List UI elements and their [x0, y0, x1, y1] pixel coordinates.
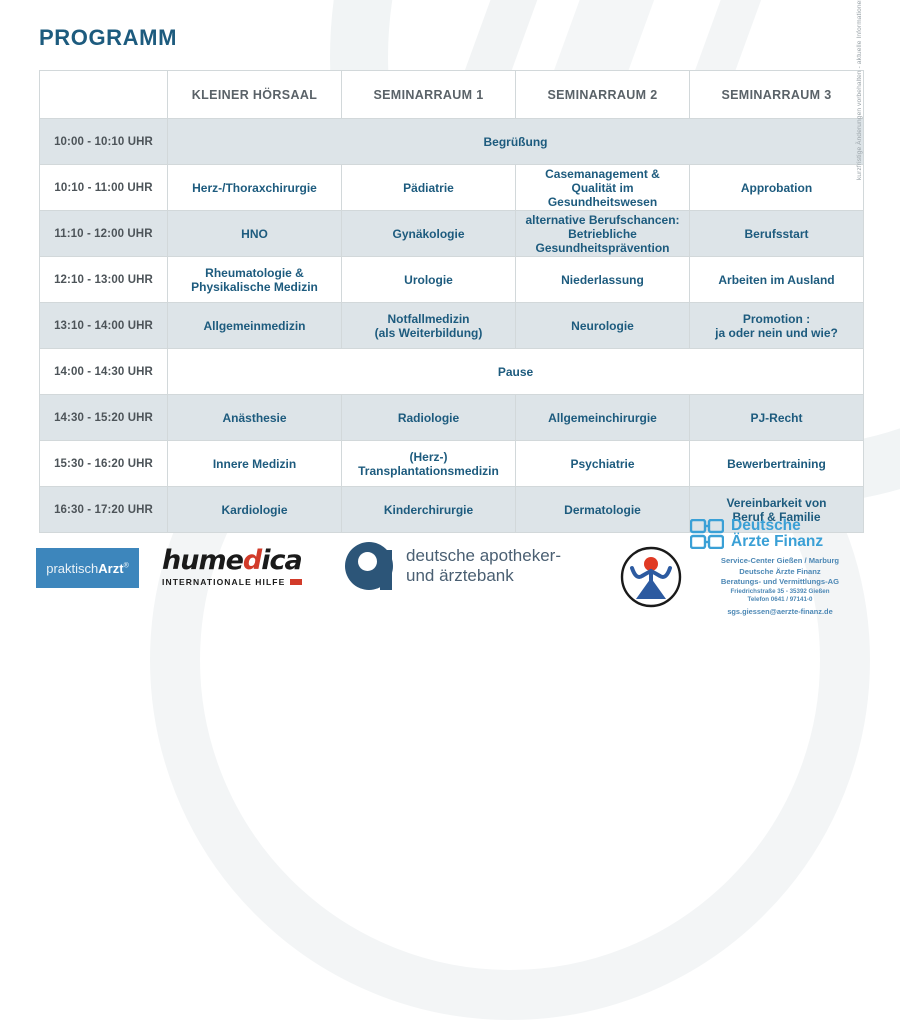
cell-session: Herz-/Thoraxchirurgie [168, 165, 342, 211]
person-in-circle-icon [616, 542, 686, 612]
apobank-wordmark: deutsche apotheker- und ärztebank [406, 546, 561, 586]
aerztefinanz-name-line2: Ärzte Finanz [731, 534, 823, 550]
cell-session: Urologie [342, 257, 516, 303]
cell-time: 15:30 - 16:20 UHR [40, 441, 168, 487]
table-row: 14:00 - 14:30 UHRPause [40, 349, 864, 395]
table-row: 13:10 - 14:00 UHRAllgemeinmedizinNotfall… [40, 303, 864, 349]
registered-icon: ® [124, 562, 129, 569]
contact-email[interactable]: sgs.giessen@aerzte-finanz.de [690, 606, 870, 617]
aerztefinanz-name-line1: Deutsche [731, 518, 823, 534]
apobank-a-mark-icon [345, 542, 393, 590]
praktischarzt-part2: Arzt [98, 561, 123, 576]
cell-session-fullwidth: Pause [168, 349, 864, 395]
humedica-subtitle-row: INTERNATIONALE HILFE [162, 577, 302, 587]
humedica-accent: d [243, 545, 261, 576]
cell-time: 13:10 - 14:00 UHR [40, 303, 168, 349]
column-header-seminarraum-1: SEMINARRAUM 1 [342, 71, 516, 119]
cell-session: Notfallmedizin(als Weiterbildung) [342, 303, 516, 349]
table-row: 15:30 - 16:20 UHRInnere Medizin(Herz-)Tr… [40, 441, 864, 487]
program-page: PROGRAMM KLEINER HÖRSAAL SEMINARRAUM 1 S… [0, 0, 900, 638]
cell-session: Niederlassung [516, 257, 690, 303]
cell-time: 10:10 - 11:00 UHR [40, 165, 168, 211]
cell-session: Gynäkologie [342, 211, 516, 257]
cell-session: Pädiatrie [342, 165, 516, 211]
cell-session: HNO [168, 211, 342, 257]
humedica-subtitle: INTERNATIONALE HILFE [162, 577, 285, 587]
logo-figure-circle[interactable] [616, 542, 686, 612]
contact-line-2: Deutsche Ärzte Finanz [690, 567, 870, 578]
cell-session: Rheumatologie &Physikalische Medizin [168, 257, 342, 303]
aerztefinanz-contact: Service-Center Gießen / Marburg Deutsche… [690, 556, 870, 617]
humedica-pre: hume [162, 545, 243, 576]
table-row: 11:10 - 12:00 UHRHNOGynäkologiealternati… [40, 211, 864, 257]
column-header-seminarraum-3: SEMINARRAUM 3 [690, 71, 864, 119]
cell-session: PJ-Recht [690, 395, 864, 441]
cell-session: Anästhesie [168, 395, 342, 441]
logo-humedica[interactable]: humedica INTERNATIONALE HILFE [162, 546, 302, 587]
column-header-kleiner-hoersaal: KLEINER HÖRSAAL [168, 71, 342, 119]
aerztefinanz-mark-icon [690, 519, 724, 549]
cell-session: Psychiatrie [516, 441, 690, 487]
cell-time: 12:10 - 13:00 UHR [40, 257, 168, 303]
cell-session: Arbeiten im Ausland [690, 257, 864, 303]
column-header-seminarraum-2: SEMINARRAUM 2 [516, 71, 690, 119]
cell-session: Neurologie [516, 303, 690, 349]
cell-time: 11:10 - 12:00 UHR [40, 211, 168, 257]
humedica-wordmark: humedica [162, 546, 302, 576]
cell-session: Bewerbertraining [690, 441, 864, 487]
humedica-red-bar-icon [290, 579, 302, 585]
table-row: 10:10 - 11:00 UHRHerz-/ThoraxchirurgiePä… [40, 165, 864, 211]
cell-session: Approbation [690, 165, 864, 211]
table-row: 12:10 - 13:00 UHRRheumatologie &Physikal… [40, 257, 864, 303]
aerztefinanz-head: Deutsche Ärzte Finanz [690, 518, 870, 549]
column-header-time [40, 71, 168, 119]
aerztefinanz-wordmark: Deutsche Ärzte Finanz [731, 518, 823, 549]
contact-line-5: Telefon 0641 / 97141-0 [690, 596, 870, 605]
table-body: 10:00 - 10:10 UHRBegrüßung10:10 - 11:00 … [40, 119, 864, 533]
logo-praktischarzt[interactable]: praktischArzt® [36, 548, 139, 588]
contact-line-4: Friedrichstraße 35 - 35392 Gießen [690, 588, 870, 597]
cell-session: Promotion :ja oder nein und wie? [690, 303, 864, 349]
logo-deutsche-aerzte-finanz[interactable]: Deutsche Ärzte Finanz Service-Center Gie… [690, 518, 870, 617]
cell-session: Innere Medizin [168, 441, 342, 487]
page-title: PROGRAMM [39, 25, 177, 51]
humedica-post: ica [261, 545, 301, 576]
apobank-line1: deutsche apotheker- [406, 546, 561, 566]
cell-session-fullwidth: Begrüßung [168, 119, 864, 165]
contact-line-3: Beratungs- und Vermittlungs-AG [690, 577, 870, 588]
cell-time: 14:30 - 15:20 UHR [40, 395, 168, 441]
program-table: KLEINER HÖRSAAL SEMINARRAUM 1 SEMINARRAU… [39, 70, 864, 533]
cell-session: Radiologie [342, 395, 516, 441]
side-note-text: kurzfristige Änderungen vorbehalten - ak… [856, 0, 863, 180]
footer-sponsors: praktischArzt® humedica INTERNATIONALE H… [0, 518, 900, 638]
table-row: 14:30 - 15:20 UHRAnästhesieRadiologieAll… [40, 395, 864, 441]
cell-session: Berufsstart [690, 211, 864, 257]
cell-session: alternative Berufschancen:Betriebliche G… [516, 211, 690, 257]
cell-time: 10:00 - 10:10 UHR [40, 119, 168, 165]
cell-session: Allgemeinchirurgie [516, 395, 690, 441]
logo-apobank[interactable]: deutsche apotheker- und ärztebank [345, 542, 561, 590]
table-row: 10:00 - 10:10 UHRBegrüßung [40, 119, 864, 165]
cell-session: (Herz-)Transplantationsmedizin [342, 441, 516, 487]
contact-line-1: Service-Center Gießen / Marburg [690, 556, 870, 567]
cell-session: Casemanagement &Qualität im Gesundheitsw… [516, 165, 690, 211]
praktischarzt-part1: praktisch [46, 561, 98, 576]
cell-session: Allgemeinmedizin [168, 303, 342, 349]
table-header-row: KLEINER HÖRSAAL SEMINARRAUM 1 SEMINARRAU… [40, 71, 864, 119]
apobank-line2: und ärztebank [406, 566, 561, 586]
cell-time: 14:00 - 14:30 UHR [40, 349, 168, 395]
